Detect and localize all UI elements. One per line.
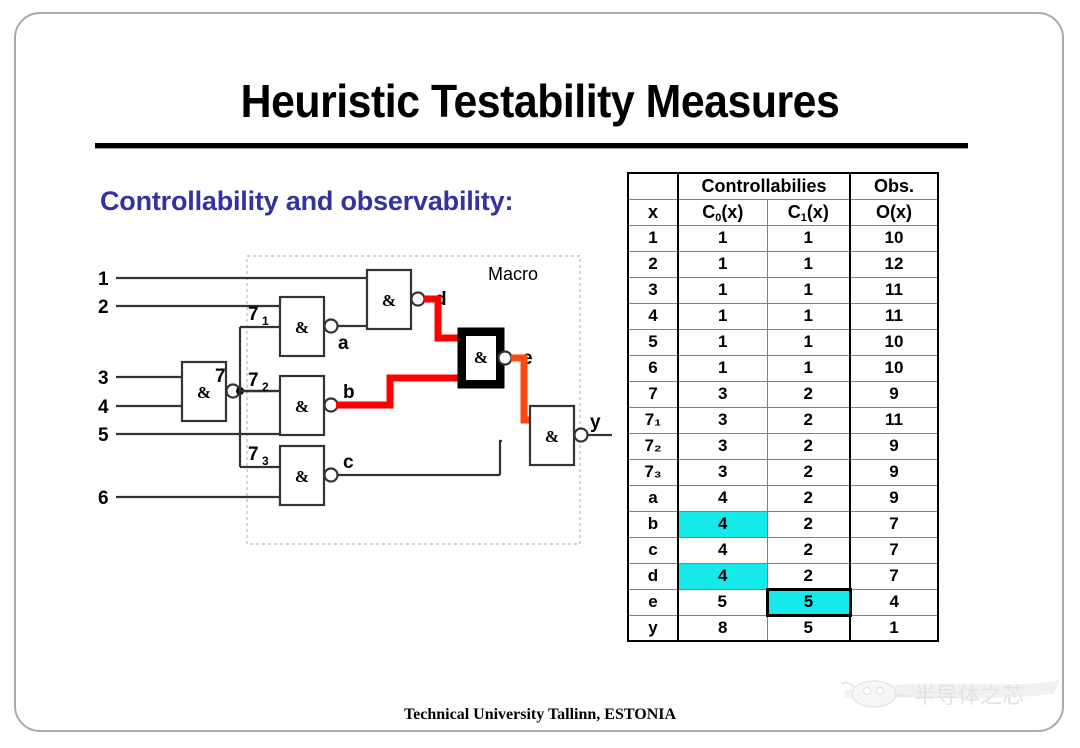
table-cell-x: 7₂ — [628, 433, 678, 459]
table-row: 11110 — [628, 225, 938, 251]
svg-text:2: 2 — [262, 380, 269, 394]
table-cell-x: d — [628, 563, 678, 589]
table-cell-c0: 3 — [678, 433, 767, 459]
table-cell-o: 11 — [850, 303, 938, 329]
table-row: e554 — [628, 589, 938, 615]
table-cell-o: 1 — [850, 615, 938, 641]
table-cell-c1: 1 — [767, 303, 850, 329]
table-body: Controllabilies Obs. x C0(x) C1(x) O(x) … — [628, 173, 938, 641]
col-header-c0: C0(x) — [678, 199, 767, 225]
table-cell-c1: 1 — [767, 329, 850, 355]
table-cell-o: 7 — [850, 511, 938, 537]
table-row: b427 — [628, 511, 938, 537]
signal-label-b: b — [343, 382, 355, 403]
table-cell-c0: 3 — [678, 459, 767, 485]
table-cell-c0: 1 — [678, 355, 767, 381]
signal-label-c: c — [343, 452, 354, 473]
table-cell-c0: 1 — [678, 251, 767, 277]
table-cell-c1: 2 — [767, 537, 850, 563]
table-cell-o: 10 — [850, 225, 938, 251]
table-cell-o: 9 — [850, 381, 938, 407]
table-cell-x: 5 — [628, 329, 678, 355]
circuit-input-1: 1 — [98, 269, 109, 290]
table-cell-c0: 1 — [678, 225, 767, 251]
col-header-c1: C1(x) — [767, 199, 850, 225]
title-divider — [95, 143, 968, 148]
table-column-header-row: x C0(x) C1(x) O(x) — [628, 199, 938, 225]
svg-text:&: & — [295, 467, 309, 486]
table-cell-c1: 5 — [767, 589, 850, 615]
table-row: 41111 — [628, 303, 938, 329]
svg-text:3: 3 — [262, 454, 269, 468]
table-row: d427 — [628, 563, 938, 589]
table-row: y851 — [628, 615, 938, 641]
table-cell-o: 9 — [850, 433, 938, 459]
output-label-y: y — [590, 412, 601, 433]
page-title: Heuristic Testability Measures — [38, 74, 1042, 128]
table-cell-c1: 1 — [767, 355, 850, 381]
table-group-header-row: Controllabilies Obs. — [628, 173, 938, 199]
table-cell-c0: 1 — [678, 303, 767, 329]
table-cell-c1: 2 — [767, 459, 850, 485]
circuit-input-3: 3 — [98, 368, 109, 389]
table-cell-c1: 1 — [767, 277, 850, 303]
table-cell-c0: 1 — [678, 277, 767, 303]
svg-text:&: & — [197, 383, 211, 402]
col-header-x: x — [628, 199, 678, 225]
table-cell-x: 3 — [628, 277, 678, 303]
table-row: 7₃329 — [628, 459, 938, 485]
table-cell-o: 10 — [850, 355, 938, 381]
net-label-7: 7 — [215, 366, 226, 387]
circuit-input-5: 5 — [98, 425, 109, 446]
table-cell-o: 9 — [850, 459, 938, 485]
table-cell-c1: 1 — [767, 225, 850, 251]
macro-label: Macro — [488, 264, 538, 284]
net-label-7-3: 7 — [248, 444, 259, 465]
circuit-input-2: 2 — [98, 297, 109, 318]
table-cell-c0: 3 — [678, 381, 767, 407]
table-cell-x: c — [628, 537, 678, 563]
table-cell-c1: 2 — [767, 563, 850, 589]
table-row: 7₂329 — [628, 433, 938, 459]
table-cell-c0: 5 — [678, 589, 767, 615]
table-cell-c0: 8 — [678, 615, 767, 641]
table-cell-c1: 2 — [767, 407, 850, 433]
table-cell-c0: 4 — [678, 537, 767, 563]
table-row: c427 — [628, 537, 938, 563]
table-cell-o: 7 — [850, 563, 938, 589]
table-cell-c1: 1 — [767, 251, 850, 277]
section-subtitle: Controllability and observability: — [100, 186, 513, 217]
svg-text:&: & — [382, 291, 396, 310]
table-cell-x: 4 — [628, 303, 678, 329]
svg-text:&: & — [545, 427, 559, 446]
circuit-input-4: 4 — [98, 397, 109, 418]
table-cell-c0: 4 — [678, 511, 767, 537]
table-cell-o: 12 — [850, 251, 938, 277]
table-cell-o: 11 — [850, 407, 938, 433]
signal-label-a: a — [338, 333, 349, 354]
table-cell-o: 10 — [850, 329, 938, 355]
table-cell-c0: 4 — [678, 485, 767, 511]
table-cell-x: 7₁ — [628, 407, 678, 433]
table-cell-x: y — [628, 615, 678, 641]
svg-text:&: & — [295, 318, 309, 337]
table-cell-o: 9 — [850, 485, 938, 511]
table-row: 51110 — [628, 329, 938, 355]
table-row: 61110 — [628, 355, 938, 381]
slide: Heuristic Testability Measures Controlla… — [0, 0, 1080, 748]
table-cell-c1: 2 — [767, 433, 850, 459]
net-label-7-1: 7 — [248, 304, 259, 325]
table-cell-x: 7₃ — [628, 459, 678, 485]
table-cell-x: b — [628, 511, 678, 537]
table-cell-o: 4 — [850, 589, 938, 615]
table-cell-x: 1 — [628, 225, 678, 251]
table-cell-c1: 2 — [767, 511, 850, 537]
table-cell-x: 2 — [628, 251, 678, 277]
table-cell-x: a — [628, 485, 678, 511]
group-header-controllabilies: Controllabilies — [678, 173, 850, 199]
group-header-obs: Obs. — [850, 173, 938, 199]
circuit-diagram: .w{stroke:#333;stroke-width:2.2;fill:non… — [90, 250, 620, 550]
testability-table: Controllabilies Obs. x C0(x) C1(x) O(x) … — [627, 172, 939, 642]
table-cell-x: e — [628, 589, 678, 615]
table-row: a429 — [628, 485, 938, 511]
table-cell-c1: 5 — [767, 615, 850, 641]
table-row: 31111 — [628, 277, 938, 303]
table-cell-c0: 1 — [678, 329, 767, 355]
circuit-input-6: 6 — [98, 488, 109, 509]
table-row: 21112 — [628, 251, 938, 277]
path-b — [336, 378, 462, 405]
table-cell-o: 11 — [850, 277, 938, 303]
svg-text:&: & — [474, 348, 488, 367]
table-row: 7₁3211 — [628, 407, 938, 433]
table-cell-c0: 3 — [678, 407, 767, 433]
svg-text:&: & — [295, 397, 309, 416]
table-cell-c1: 2 — [767, 381, 850, 407]
table-row: 7329 — [628, 381, 938, 407]
col-header-o: O(x) — [850, 199, 938, 225]
testability-table-wrap: Controllabilies Obs. x C0(x) C1(x) O(x) … — [627, 172, 939, 642]
svg-text:1: 1 — [262, 314, 269, 328]
table-cell-o: 7 — [850, 537, 938, 563]
net-label-7-2: 7 — [248, 370, 259, 391]
table-cell-c1: 2 — [767, 485, 850, 511]
table-cell-x: 7 — [628, 381, 678, 407]
footer-affiliation: Technical University Tallinn, ESTONIA — [0, 706, 1080, 724]
group-header-blank — [628, 173, 678, 199]
table-cell-x: 6 — [628, 355, 678, 381]
table-cell-c0: 4 — [678, 563, 767, 589]
